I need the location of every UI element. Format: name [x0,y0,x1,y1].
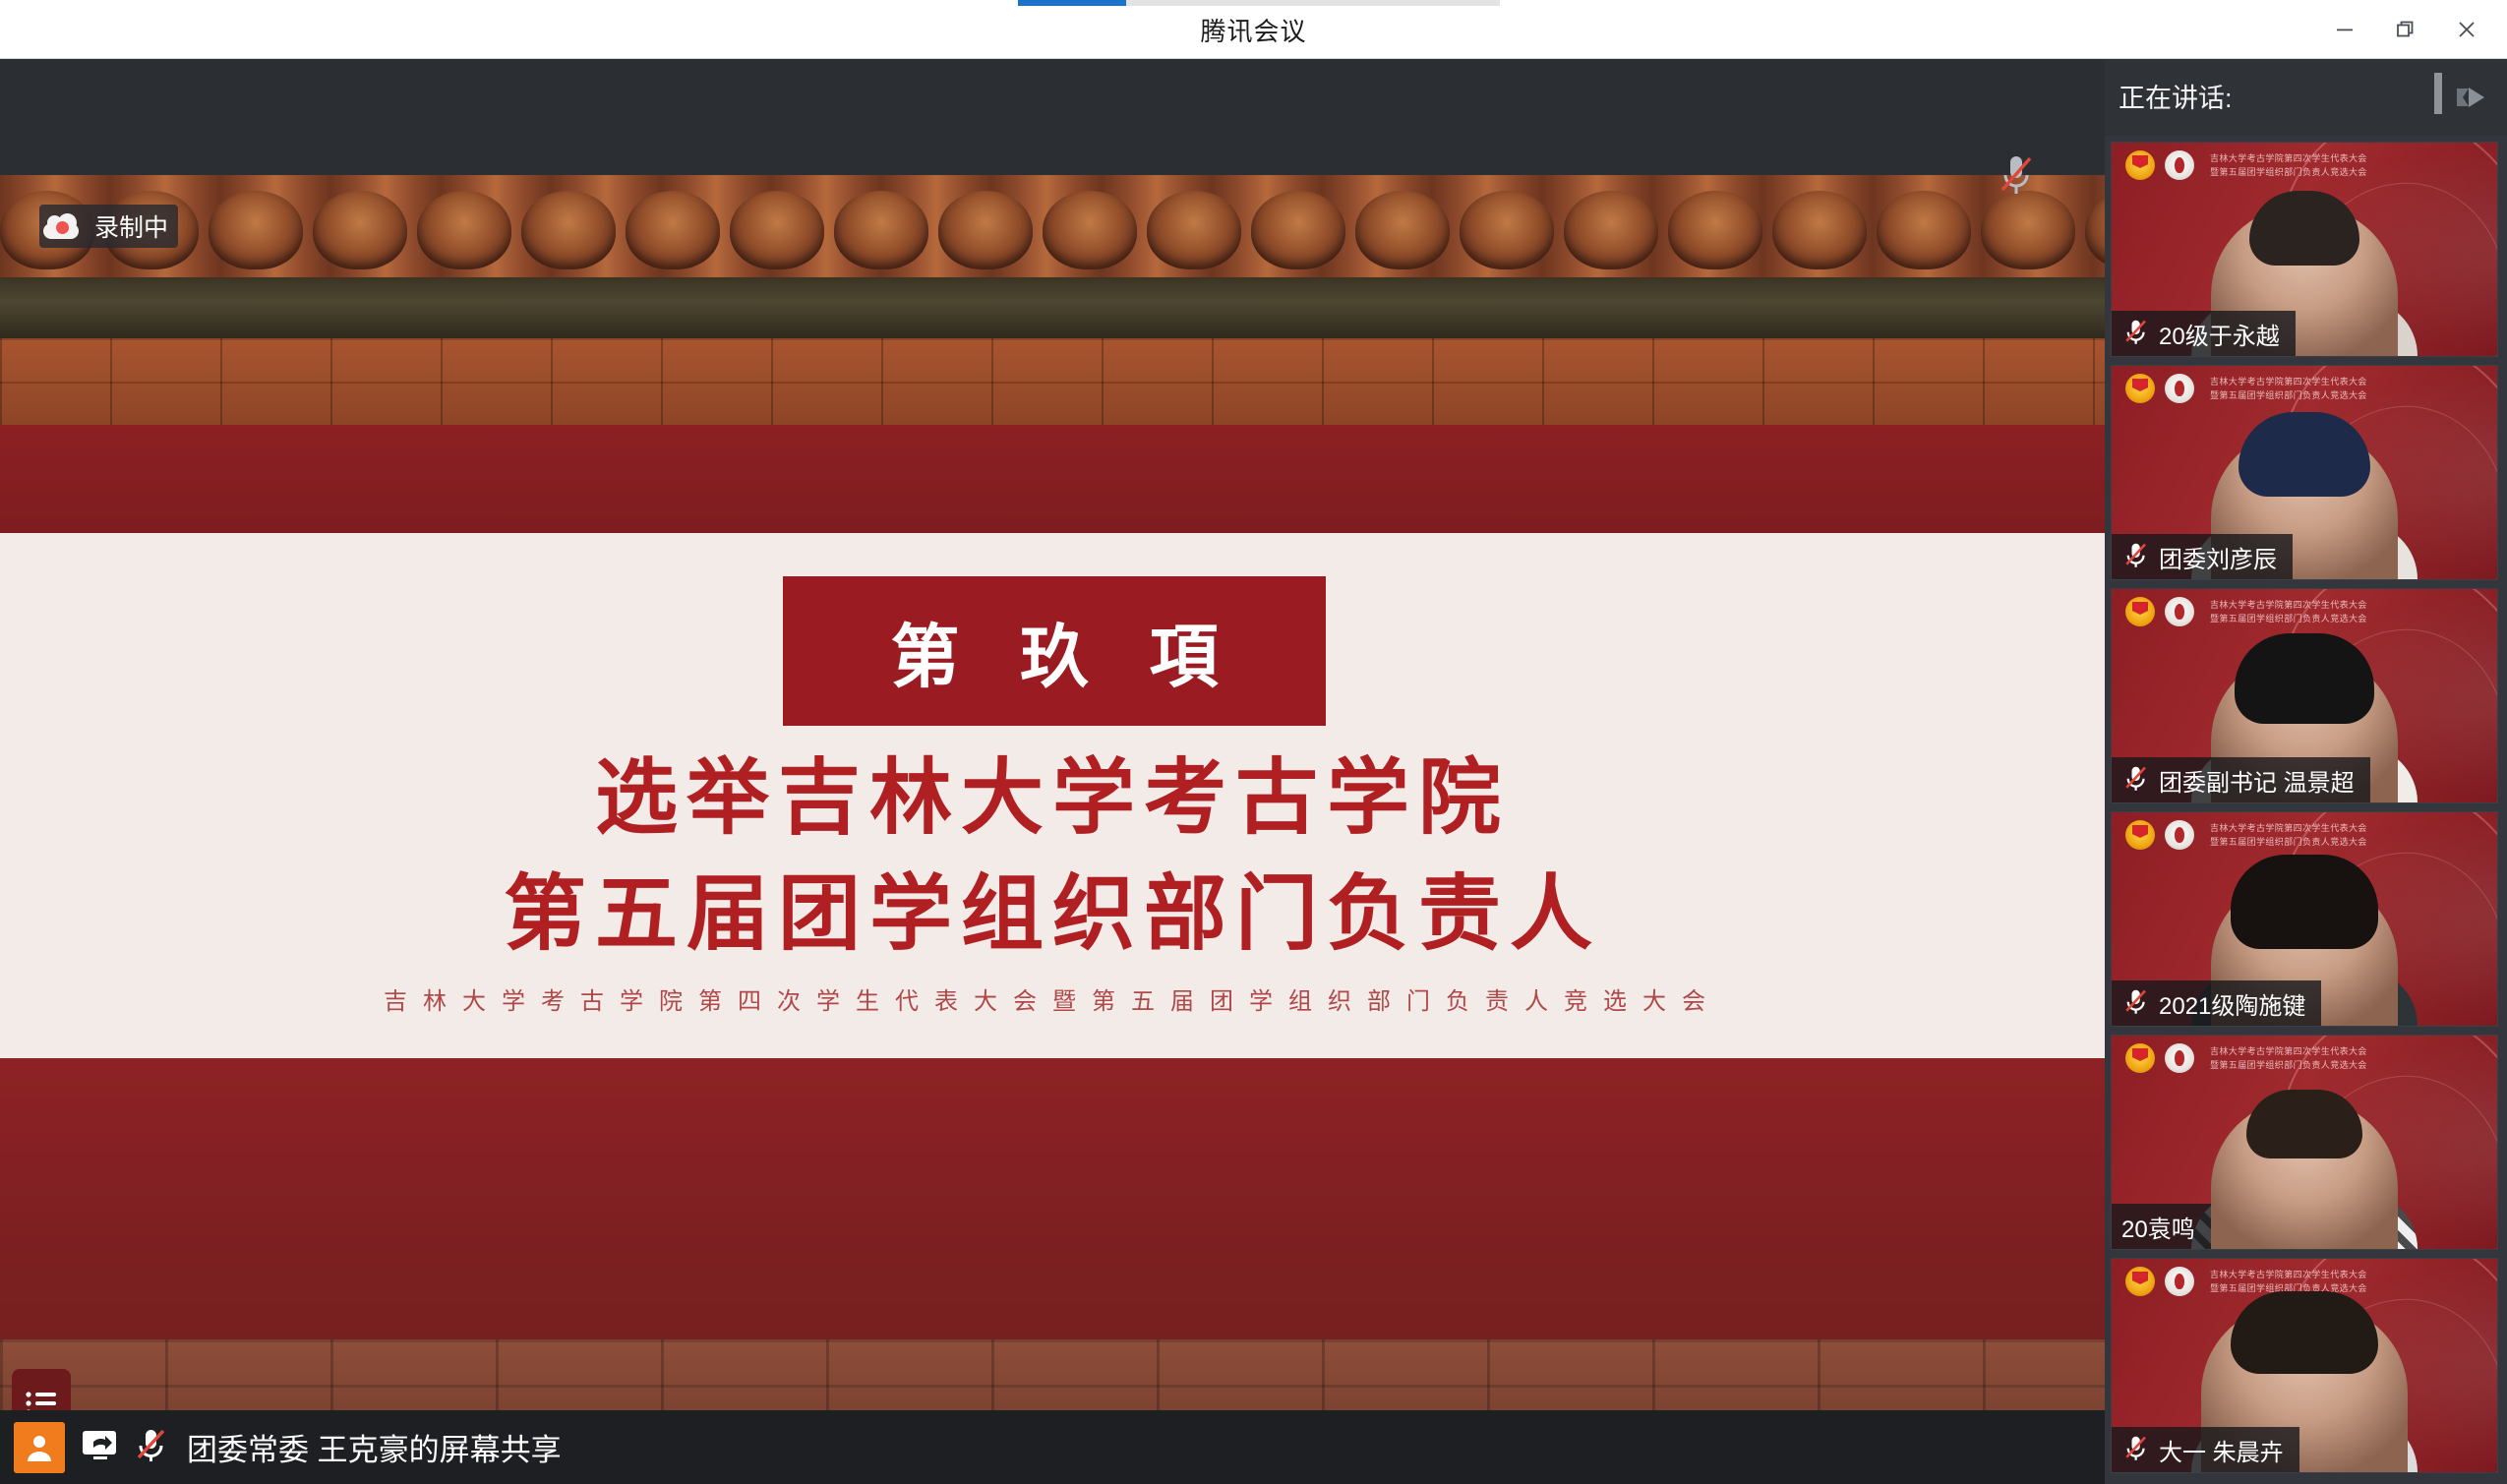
recording-label: 录制中 [94,208,168,244]
mic-muted-icon [132,1425,171,1469]
youth-league-emblem-icon [2125,597,2155,626]
shared-slide: 第 玖 項 选举吉林大学考古学院 第五届团学组织部门负责人 吉林大学考古学院第四… [0,175,2105,1465]
section-number-banner: 第 玖 項 [783,576,1326,726]
participant-rail: 正在讲话: 吉林大学考古学院第四次学生代表大会 [2105,59,2507,1484]
avatar [2249,191,2359,266]
participant-tiles: 吉林大学考古学院第四次学生代表大会 暨第五届团学组织部门负责人竞选大会 [2105,136,2507,1484]
collapse-right-icon[interactable] [2448,75,2501,120]
meeting-window-body: 录制中 [0,59,2507,1484]
roof-eave-photo [0,175,2105,281]
lower-red-wall [0,1058,2105,1339]
background-logos [2125,820,2194,850]
university-seal-icon [2165,1267,2194,1296]
rail-header: 正在讲话: [2105,59,2507,136]
stage-top-toolbar [0,59,2105,175]
participant-tile[interactable]: 吉林大学考古学院第四次学生代表大会 暨第五届团学组织部门负责人竞选大会 [2111,1258,2498,1473]
participant-name: 团委副书记 温景超 [2159,763,2355,798]
window-controls [2314,0,2497,59]
eave-brick-course [0,338,2105,425]
background-logos [2125,597,2194,626]
background-text: 吉林大学考古学院第四次学生代表大会 暨第五届团学组织部门负责人竞选大会 [2210,598,2367,625]
participant-label: 2021级陶施键 [2112,980,2321,1026]
youth-league-emblem-icon [2125,150,2155,180]
background-logos [2125,374,2194,403]
mic-muted-icon[interactable] [1995,150,2038,202]
participant-tile[interactable]: 吉林大学考古学院第四次学生代表大会 暨第五届团学组织部门负责人竞选大会 20袁鸣 [2111,1035,2498,1250]
participant-label: 20袁鸣 [2112,1204,2211,1249]
active-speaker-label: 正在讲话: [2119,77,2233,115]
upper-red-wall [0,425,2105,533]
participant-tile[interactable]: 吉林大学考古学院第四次学生代表大会 暨第五届团学组织部门负责人竞选大会 [2111,588,2498,803]
background-logos [2125,1043,2194,1073]
screen-share-icon [81,1428,120,1466]
university-seal-icon [2165,150,2194,180]
slide-subtitle: 吉林大学考古学院第四次学生代表大会暨第五届团学组织部门负责人竞选大会 [0,981,2105,1016]
youth-league-emblem-icon [2125,374,2155,403]
roof-tile-discs [0,189,2105,271]
avatar [2231,1291,2378,1374]
mic-muted-icon [2121,317,2151,351]
avatar [2231,855,2378,949]
participant-name: 大一 朱晨卉 [2159,1433,2284,1467]
mic-muted-icon [2121,986,2151,1021]
section-number-text: 第 玖 項 [869,602,1240,701]
text-cursor [2434,73,2442,114]
participant-tile[interactable]: 吉林大学考古学院第四次学生代表大会 暨第五届团学组织部门负责人竞选大会 [2111,365,2498,580]
cloud-record-icon [43,213,79,239]
background-text: 吉林大学考古学院第四次学生代表大会 暨第五届团学组织部门负责人竞选大会 [2210,821,2367,849]
participant-tile[interactable]: 吉林大学考古学院第四次学生代表大会 暨第五届团学组织部门负责人竞选大会 [2111,142,2498,357]
university-seal-icon [2165,597,2194,626]
participant-tile[interactable]: 吉林大学考古学院第四次学生代表大会 暨第五届团学组织部门负责人竞选大会 [2111,811,2498,1027]
background-text: 吉林大学考古学院第四次学生代表大会 暨第五届团学组织部门负责人竞选大会 [2210,1044,2367,1072]
restore-icon[interactable] [2375,0,2436,59]
slide-headline-group: 选举吉林大学考古学院 第五届团学组织部门负责人 [0,742,2105,974]
university-seal-icon [2165,374,2194,403]
screen-share-status-bar: 团委常委 王克豪的屏幕共享 [0,1410,2105,1484]
shared-screen-stage: 录制中 [0,59,2105,1484]
participant-label: 团委刘彦辰 [2112,534,2293,579]
background-text: 吉林大学考古学院第四次学生代表大会 暨第五届团学组织部门负责人竞选大会 [2210,375,2367,402]
slide-content-panel: 第 玖 項 选举吉林大学考古学院 第五届团学组织部门负责人 吉林大学考古学院第四… [0,533,2105,1058]
recording-indicator: 录制中 [39,205,178,248]
participant-label: 20级于永越 [2112,311,2296,356]
background-logos [2125,150,2194,180]
person-icon [14,1422,65,1473]
participant-name: 20袁鸣 [2121,1210,2195,1244]
university-seal-icon [2165,1043,2194,1073]
mic-muted-icon [2121,1433,2151,1467]
window-title-bar: 腾讯会议 [0,0,2507,59]
youth-league-emblem-icon [2125,1043,2155,1073]
participant-label: 大一 朱晨卉 [2112,1427,2299,1472]
minimize-icon[interactable] [2314,0,2375,59]
slide-headline-line1: 选举吉林大学考古学院 [0,742,2105,858]
slide-headline-line2: 第五届团学组织部门负责人 [0,858,2105,974]
participant-name: 2021级陶施键 [2159,986,2305,1021]
mic-muted-icon [2121,540,2151,574]
avatar [2238,412,2370,497]
sharer-label: 团委常委 王克豪的屏幕共享 [187,1425,562,1469]
close-icon[interactable] [2436,0,2497,59]
mic-muted-icon [2121,763,2151,798]
window-title: 腾讯会议 [0,0,2507,59]
avatar [2235,633,2374,724]
avatar [2246,1090,2362,1158]
participant-name: 20级于永越 [2159,317,2280,351]
participant-label: 团委副书记 温景超 [2112,757,2370,802]
youth-league-emblem-icon [2125,820,2155,850]
youth-league-emblem-icon [2125,1267,2155,1296]
university-seal-icon [2165,820,2194,850]
participant-name: 团委刘彦辰 [2159,540,2277,574]
background-text: 吉林大学考古学院第四次学生代表大会 暨第五届团学组织部门负责人竞选大会 [2210,151,2367,179]
sharer-icon-group [81,1425,171,1469]
background-logos [2125,1267,2194,1296]
eave-beam [0,277,2105,338]
